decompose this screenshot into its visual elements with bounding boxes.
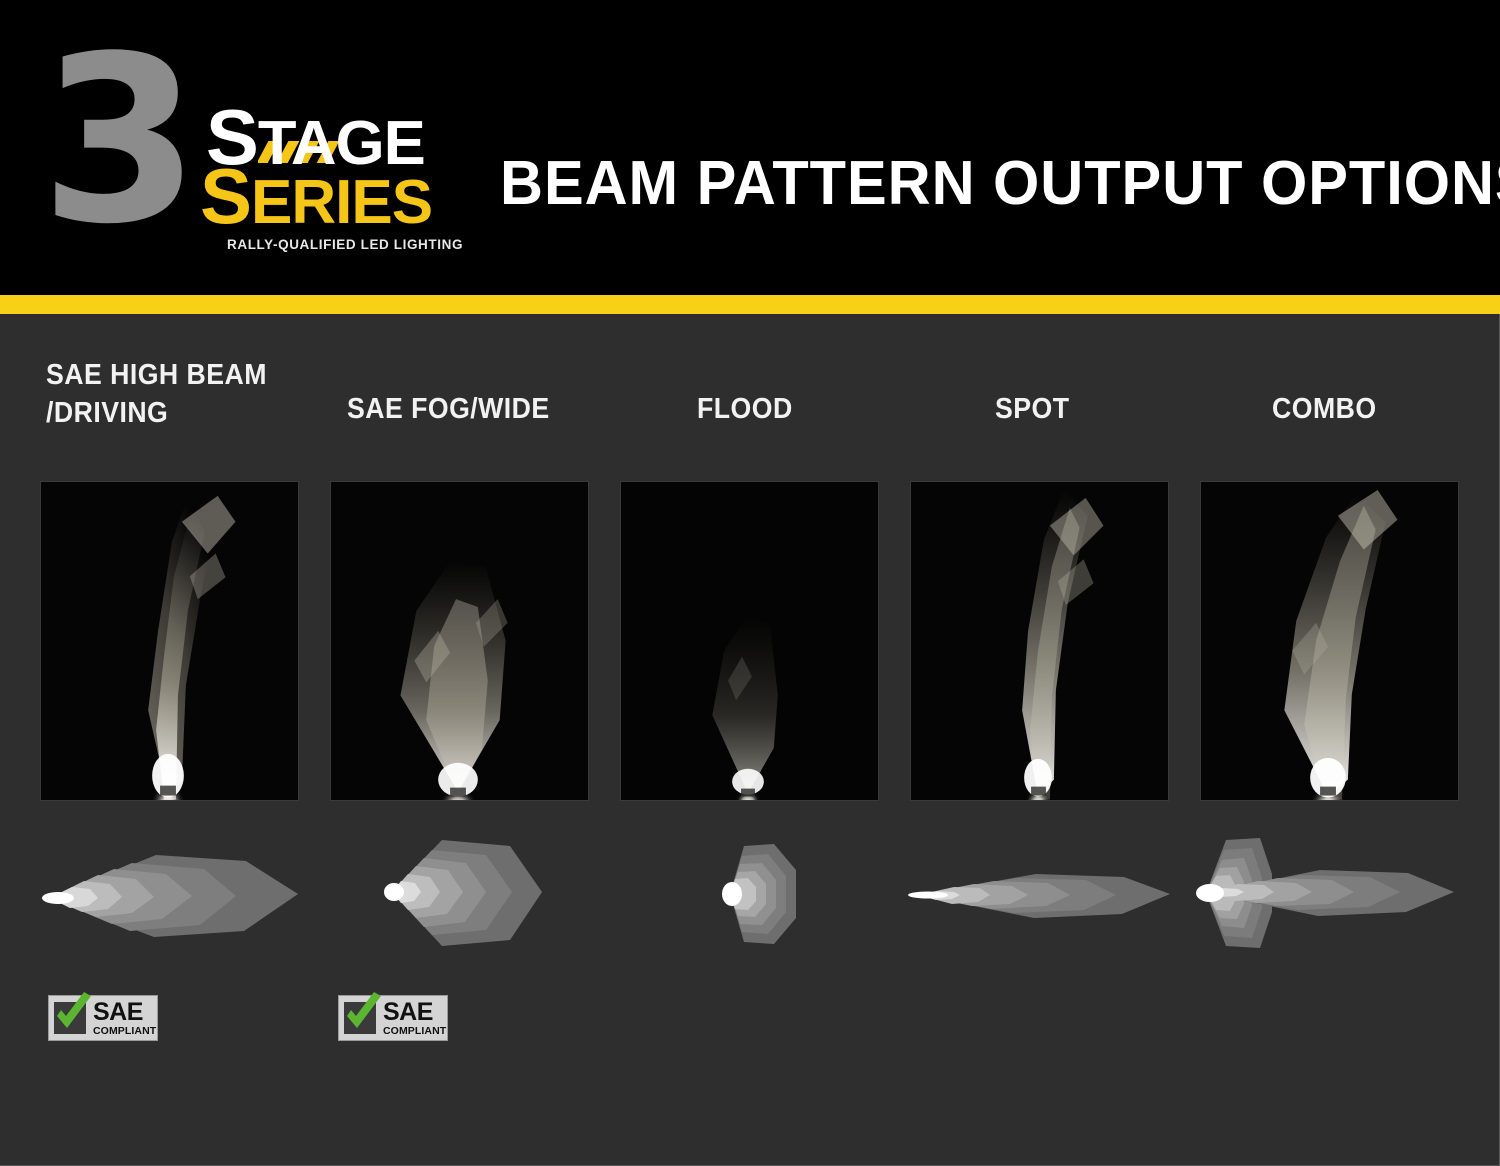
logo-tagline: RALLY-QUALIFIED LED LIGHTING: [227, 237, 463, 252]
column-label-sae-high-beam-driving: SAE HIGH BEAM /DRIVING: [46, 356, 322, 432]
beam-photo-sae-high-beam-driving: [40, 481, 299, 801]
sae-badge-text: SAE COMPLIANT: [383, 1000, 446, 1037]
green-check-icon: [341, 992, 385, 1036]
page-title: BEAM PATTERN OUTPUT OPTIONS: [500, 148, 1500, 219]
sae-badge-text: SAE COMPLIANT: [93, 1000, 156, 1037]
sae-badge-sub: COMPLIANT: [93, 1026, 156, 1037]
sae-compliant-badge-sae-fog-wide: SAE COMPLIANT: [338, 995, 448, 1041]
column-label-combo: COMBO: [1272, 390, 1500, 428]
accent-divider-bar: [0, 295, 1500, 314]
beam-diagram-flood: [700, 836, 820, 952]
beam-diagram-spot: [906, 844, 1178, 944]
beam-photo-flood: [620, 481, 879, 801]
beam-diagram-sae-high-beam-driving: [36, 841, 306, 951]
stage-series-logo: 3 STAGE SERIES RALLY-QUALIFIED LED LIGHT…: [30, 45, 450, 240]
beam-diagram-sae-fog-wide: [370, 834, 570, 952]
sae-badge-sub: COMPLIANT: [383, 1026, 446, 1037]
sae-checkbox-icon: [344, 1002, 376, 1034]
column-label-sae-fog-wide: SAE FOG/WIDE: [347, 390, 623, 428]
sae-compliant-badge-sae-high-beam-driving: SAE COMPLIANT: [48, 995, 158, 1041]
column-label-spot: SPOT: [995, 390, 1234, 428]
beam-photo-sae-fog-wide: [330, 481, 589, 801]
beam-diagram-combo: [1186, 834, 1462, 952]
beam-photo-spot: [910, 481, 1169, 801]
sae-badge-main: SAE: [93, 1000, 156, 1025]
logo-word-series: SERIES: [200, 157, 432, 235]
green-check-icon: [51, 992, 95, 1036]
logo-numeral-3: 3: [40, 27, 192, 257]
sae-checkbox-icon: [54, 1002, 86, 1034]
header-bar: 3 STAGE SERIES RALLY-QUALIFIED LED LIGHT…: [0, 0, 1500, 295]
beam-photo-combo: [1200, 481, 1459, 801]
beam-pattern-grid: SAE HIGH BEAM /DRIVING: [0, 314, 1500, 1166]
column-label-flood: FLOOD: [697, 390, 936, 428]
sae-badge-main: SAE: [383, 1000, 446, 1025]
